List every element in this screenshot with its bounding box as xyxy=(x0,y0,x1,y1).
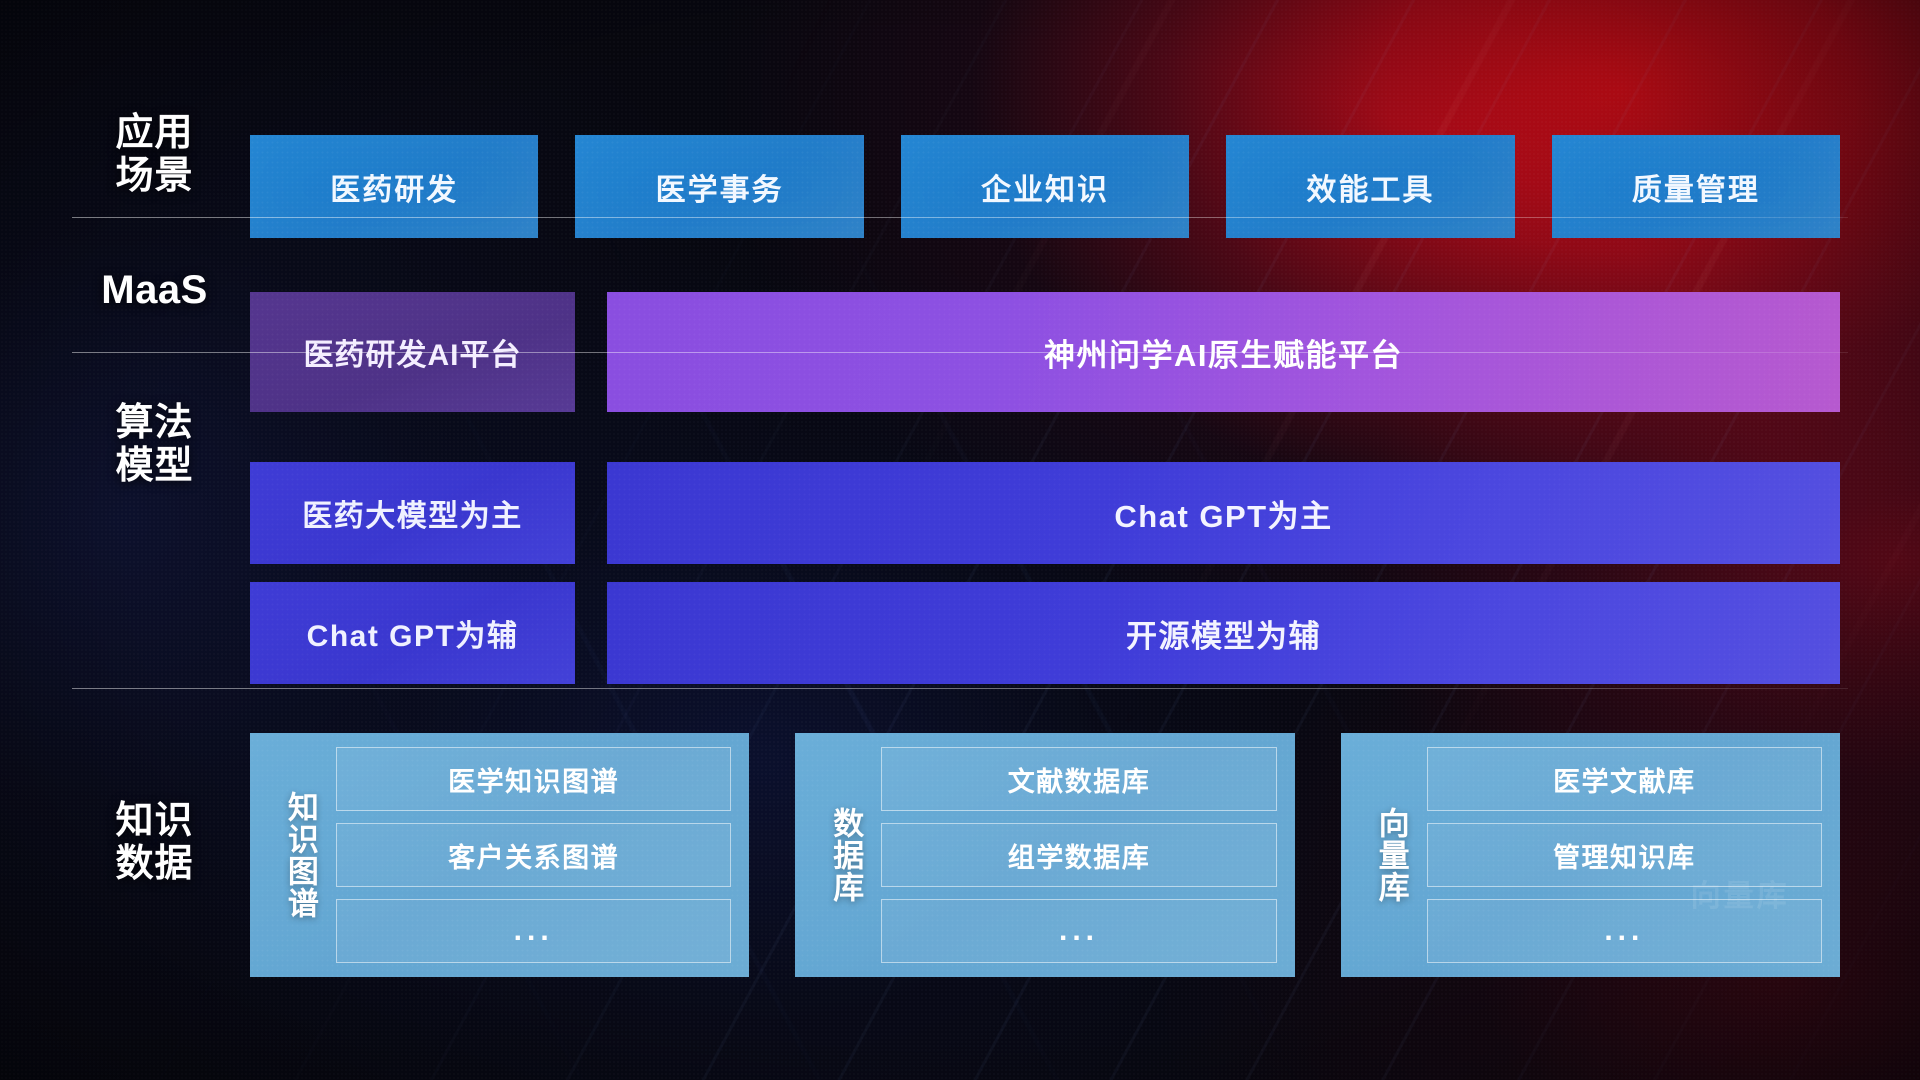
knowledge-row: 知识图谱 医学知识图谱 客户关系图谱 ... 数据库 文献数据库 xyxy=(250,733,1840,977)
knowledge-chip-label: ... xyxy=(1059,914,1099,948)
algorithm-secondary-model-box[interactable]: Chat GPT为辅 xyxy=(250,582,575,684)
algorithm-primary-model-label: 医药大模型为主 xyxy=(302,491,523,535)
knowledge-chip[interactable]: 文献数据库 xyxy=(881,747,1276,811)
algorithm-subrow: 医药大模型为主 Chat GPT为主 xyxy=(250,462,1840,564)
knowledge-chip-label: 医学文献库 xyxy=(1553,760,1696,799)
algorithm-primary-general-box[interactable]: Chat GPT为主 xyxy=(607,462,1840,564)
knowledge-chip[interactable]: 组学数据库 xyxy=(881,823,1276,887)
tier-label-maas: MaaS xyxy=(72,268,237,313)
algorithm-primary-general-label: Chat GPT为主 xyxy=(1114,491,1332,536)
knowledge-chip[interactable]: 医学知识图谱 xyxy=(336,747,731,811)
knowledge-chip[interactable]: 客户关系图谱 xyxy=(336,823,731,887)
knowledge-chip-label: 医学知识图谱 xyxy=(448,760,619,799)
knowledge-group-database: 数据库 文献数据库 组学数据库 ... xyxy=(795,733,1294,977)
algorithm-secondary-general-label: 开源模型为辅 xyxy=(1126,611,1321,656)
app-box-label: 医学事务 xyxy=(656,165,784,209)
knowledge-chip[interactable]: 医学文献库 xyxy=(1427,747,1822,811)
applications-row: 医药研发 医学事务 企业知识 效能工具 质量管理 xyxy=(250,135,1840,238)
app-box[interactable]: 医学事务 xyxy=(575,135,863,238)
knowledge-chip-more[interactable]: ... xyxy=(336,899,731,963)
knowledge-chip-more[interactable]: ... xyxy=(881,899,1276,963)
knowledge-chip-label: 管理知识库 xyxy=(1553,836,1696,875)
app-box[interactable]: 质量管理 xyxy=(1552,135,1840,238)
knowledge-group-label: 向量库 xyxy=(1355,747,1427,963)
knowledge-chip-label: ... xyxy=(514,914,554,948)
app-box[interactable]: 效能工具 xyxy=(1226,135,1514,238)
knowledge-group-items: 医学知识图谱 客户关系图谱 ... xyxy=(336,747,731,963)
knowledge-chip-label: ... xyxy=(1604,914,1644,948)
knowledge-group-label: 数据库 xyxy=(809,747,881,963)
algorithm-subrow: Chat GPT为辅 开源模型为辅 xyxy=(250,582,1840,684)
algorithm-row: 医药大模型为主 Chat GPT为主 Chat GPT为辅 开源模型为辅 xyxy=(250,462,1840,684)
app-box-label: 企业知识 xyxy=(981,165,1109,209)
knowledge-group-items: 文献数据库 组学数据库 ... xyxy=(881,747,1276,963)
knowledge-group-vector-store: 向量库 向量库 医学文献库 管理知识库 ... xyxy=(1341,733,1840,977)
tier-label-knowledge: 知识 数据 xyxy=(72,800,237,885)
algorithm-primary-model-box[interactable]: 医药大模型为主 xyxy=(250,462,575,564)
knowledge-chip-label: 组学数据库 xyxy=(1008,836,1151,875)
knowledge-group-knowledge-graph: 知识图谱 医学知识图谱 客户关系图谱 ... xyxy=(250,733,749,977)
algorithm-secondary-general-box[interactable]: 开源模型为辅 xyxy=(607,582,1840,684)
tier-divider-maas xyxy=(72,352,1848,353)
tier-divider-applications xyxy=(72,217,1848,218)
knowledge-group-items: 医学文献库 管理知识库 ... xyxy=(1427,747,1822,963)
knowledge-group-label: 知识图谱 xyxy=(264,747,336,963)
knowledge-chip-more[interactable]: ... xyxy=(1427,899,1822,963)
tier-label-applications: 应用 场景 xyxy=(72,112,237,197)
tier-label-algorithm: 算法 模型 xyxy=(72,402,237,487)
tier-divider-algorithm xyxy=(72,688,1848,689)
app-box-label: 质量管理 xyxy=(1632,165,1760,209)
knowledge-chip-label: 文献数据库 xyxy=(1008,760,1151,799)
algorithm-secondary-model-label: Chat GPT为辅 xyxy=(307,611,519,655)
architecture-diagram-canvas: 应用 场景 医药研发 医学事务 企业知识 效能工具 质量管理 MaaS 医药研发… xyxy=(0,0,1920,1080)
knowledge-chip-label: 客户关系图谱 xyxy=(448,836,619,875)
knowledge-chip[interactable]: 管理知识库 xyxy=(1427,823,1822,887)
app-box-label: 效能工具 xyxy=(1306,165,1434,209)
app-box[interactable]: 医药研发 xyxy=(250,135,538,238)
app-box-label: 医药研发 xyxy=(330,165,458,209)
app-box[interactable]: 企业知识 xyxy=(901,135,1189,238)
